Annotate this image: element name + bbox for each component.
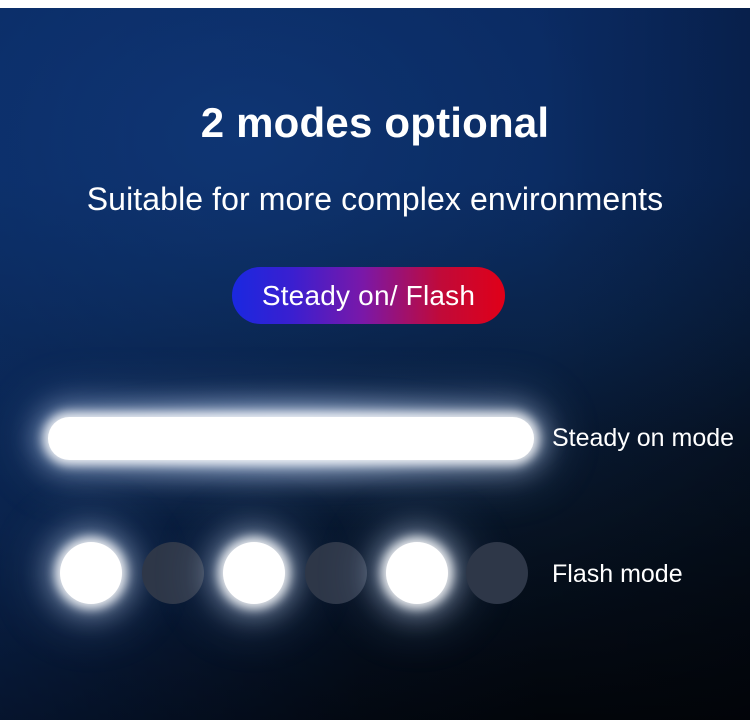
- page-subtitle: Suitable for more complex environments: [0, 180, 750, 218]
- flash-lamp-2: [142, 542, 204, 604]
- flash-lamp-6: [466, 542, 528, 604]
- steady-on-light-bar: [48, 417, 534, 460]
- flash-lamp-4: [305, 542, 367, 604]
- flash-lamp-1: [60, 542, 122, 604]
- promo-banner: 2 modes optional Suitable for more compl…: [0, 0, 750, 720]
- page-title: 2 modes optional: [0, 98, 750, 148]
- steady-on-mode-row: Steady on mode: [0, 408, 750, 470]
- mode-pill-label: Steady on/ Flash: [262, 280, 475, 312]
- steady-on-mode-label: Steady on mode: [552, 424, 734, 453]
- flash-lamp-5: [386, 542, 448, 604]
- mode-pill-badge[interactable]: Steady on/ Flash: [232, 267, 505, 324]
- flash-lamp-3: [223, 542, 285, 604]
- flash-mode-row: Flash mode: [0, 528, 750, 628]
- top-white-strip: [0, 0, 750, 8]
- flash-mode-label: Flash mode: [552, 560, 683, 589]
